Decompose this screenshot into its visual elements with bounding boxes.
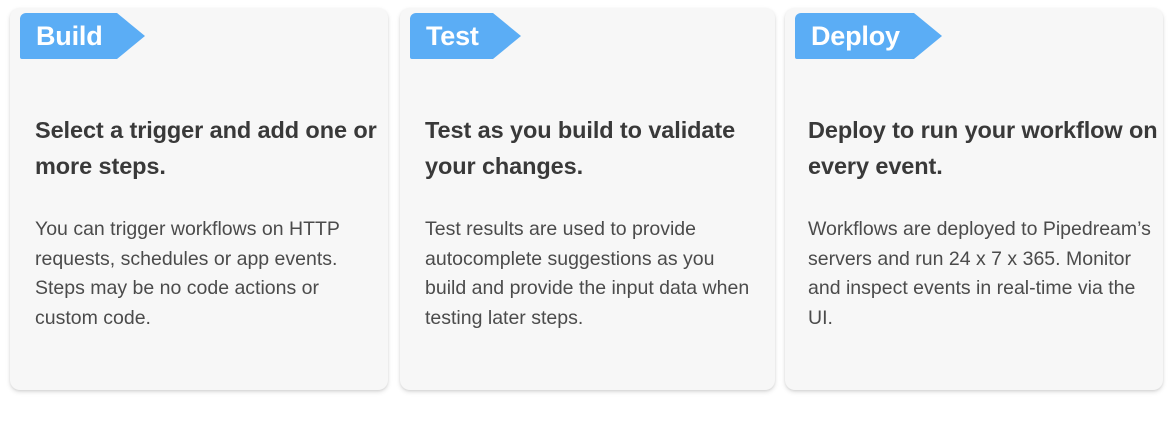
banner-label-build: Build [36,13,103,59]
step-banner-deploy: Deploy [795,13,914,59]
step-banner-build: Build [20,13,117,59]
banner-chevron-shape: Test [410,13,493,59]
banner-label-test: Test [426,13,479,59]
step-banner-test: Test [410,13,493,59]
banner-chevron-shape: Deploy [795,13,914,59]
card-body-build: You can trigger workflows on HTTP reques… [35,215,374,333]
card-heading-test: Test as you build to validate your chang… [425,112,769,184]
step-card-build[interactable]: Build Select a trigger and add one or mo… [10,8,388,390]
banner-label-deploy: Deploy [811,13,900,59]
card-body-deploy: Workflows are deployed to Pipedream’s se… [808,215,1155,333]
card-heading-deploy: Deploy to run your workflow on every eve… [808,112,1161,184]
card-heading-build: Select a trigger and add one or more ste… [35,112,382,184]
steps-card-board: Build Select a trigger and add one or mo… [0,0,1175,426]
banner-chevron-shape: Build [20,13,117,59]
card-body-test: Test results are used to provide autocom… [425,215,761,333]
step-card-deploy[interactable]: Deploy Deploy to run your workflow on ev… [785,8,1163,390]
step-card-test[interactable]: Test Test as you build to validate your … [400,8,775,390]
